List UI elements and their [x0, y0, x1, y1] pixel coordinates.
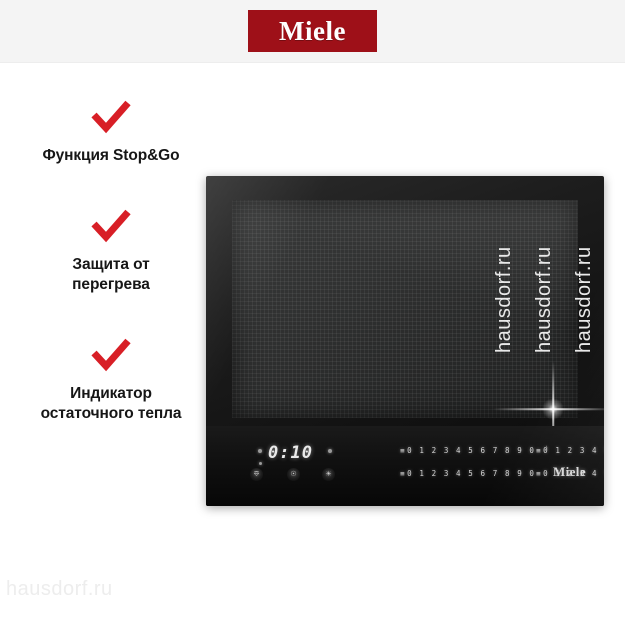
feature-label: Функция Stop&Go — [0, 146, 222, 165]
timer-icon[interactable]: ☀ — [322, 468, 335, 481]
panel-icon-row: ⎑ ☉ ☀ — [250, 468, 342, 482]
slider-digits: 0 1 2 3 4 5 6 7 8 9 0 — [543, 446, 604, 455]
check-icon — [91, 100, 131, 134]
power-icon[interactable]: ⎑ — [250, 468, 263, 481]
slider-symbol-icon: ≡ — [400, 444, 406, 457]
surface-gloss — [232, 200, 578, 418]
check-icon — [91, 209, 131, 243]
slider-scale-rear-left[interactable]: ≡0 1 2 3 4 5 6 7 8 9 0 — [400, 467, 536, 480]
feature-label: Индикатор остаточного тепла — [0, 384, 222, 423]
miele-logo-text: Miele — [279, 18, 346, 45]
timer-indicator-small-icon — [259, 462, 262, 465]
slider-digits: 0 1 2 3 4 5 6 7 8 9 0 — [407, 446, 535, 455]
slider-digits: 0 1 2 3 4 5 6 7 8 9 0 — [407, 469, 535, 478]
timer-value: 0:10 — [268, 442, 313, 464]
cooking-surface — [232, 200, 578, 418]
miele-logo: Miele — [248, 10, 377, 52]
timer-indicator-left-icon — [258, 449, 262, 453]
musical-note-icon: ♪ — [544, 443, 548, 452]
induction-cooktop: 0:10 ⎑ ☉ ☀ ≡0 1 2 3 4 5 6 7 8 9 0 ≡0 1 2… — [206, 176, 604, 506]
feature-item: Защита от перегрева — [0, 209, 222, 294]
timer-indicator-right-icon — [328, 449, 332, 453]
cooktop-brand-mark: Miele — [553, 464, 586, 480]
lock-icon[interactable]: ☉ — [287, 468, 300, 481]
timer-display[interactable]: 0:10 — [250, 442, 342, 464]
feature-list: Функция Stop&Go Защита от перегрева Инди… — [0, 100, 222, 467]
slider-symbol-icon: ≡ — [536, 467, 542, 480]
slider-symbol-icon: ≡ — [536, 444, 542, 457]
control-panel: 0:10 ⎑ ☉ ☀ ≡0 1 2 3 4 5 6 7 8 9 0 ≡0 1 2… — [206, 426, 604, 506]
check-icon — [91, 338, 131, 372]
slider-symbol-icon: ≡ — [400, 467, 406, 480]
slider-scale-front-left[interactable]: ≡0 1 2 3 4 5 6 7 8 9 0 — [400, 444, 536, 457]
page-header: Miele — [0, 0, 625, 63]
feature-label: Защита от перегрева — [0, 255, 222, 294]
feature-item: Индикатор остаточного тепла — [0, 338, 222, 423]
watermark: hausdorf.ru — [6, 578, 113, 601]
feature-item: Функция Stop&Go — [0, 100, 222, 165]
